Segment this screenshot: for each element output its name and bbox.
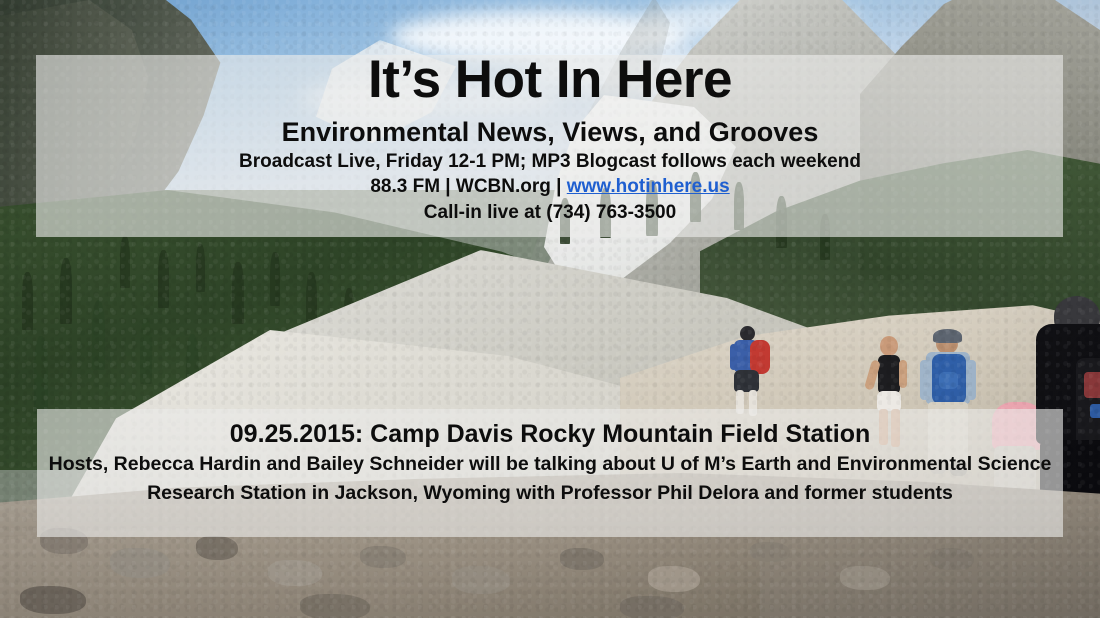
rock [452,566,510,594]
arm [966,360,976,400]
water-bottle [1090,404,1100,418]
conifer [34,336,48,414]
rock [360,546,406,568]
conifer [196,244,205,292]
conifer [270,252,280,306]
website-link[interactable]: www.hotinhere.us [567,176,730,197]
backpack-strap [1084,372,1100,398]
rock [110,548,170,578]
rock [620,596,684,618]
rock [300,594,370,618]
show-title: It’s Hot In Here [0,52,1100,108]
callin-line: Call-in live at (734) 763-3500 [0,203,1100,223]
shorts [877,391,901,411]
rock [560,548,604,570]
rock [268,560,322,586]
broadcast-schedule: Broadcast Live, Friday 12-1 PM; MP3 Blog… [0,152,1100,172]
head [880,336,898,356]
shorts [734,370,759,392]
episode-description-line-1: Hosts, Rebecca Hardin and Bailey Schneid… [0,454,1100,474]
tank-top [878,355,900,393]
arm [920,360,930,400]
arm [730,344,737,370]
episode-headline: 09.25.2015: Camp Davis Rocky Mountain Fi… [0,421,1100,447]
slide-canvas: It’s Hot In Here Environmental News, Vie… [0,0,1100,618]
conifer [92,300,105,370]
conifer [60,258,72,324]
backpack [750,340,770,374]
conifer [140,318,152,384]
episode-description-line-2: Research Station in Jackson, Wyoming wit… [0,483,1100,503]
conifer [158,250,169,308]
hiker-red-backpack [722,326,776,418]
frequency-line: 88.3 FM | WCBN.org | www.hotinhere.us [0,177,1100,197]
rock [750,542,790,562]
rock [20,586,86,614]
rock [196,536,238,560]
cap [933,329,962,343]
rock [930,548,974,570]
rock [840,566,890,590]
backpack-pocket [939,372,958,389]
conifer [22,272,33,330]
rock [648,566,700,592]
conifer [120,236,130,288]
arm [899,360,907,388]
conifer [232,262,244,324]
show-tagline: Environmental News, Views, and Grooves [0,118,1100,146]
head [740,326,755,341]
frequency-label: 88.3 FM | WCBN.org | [370,176,566,197]
